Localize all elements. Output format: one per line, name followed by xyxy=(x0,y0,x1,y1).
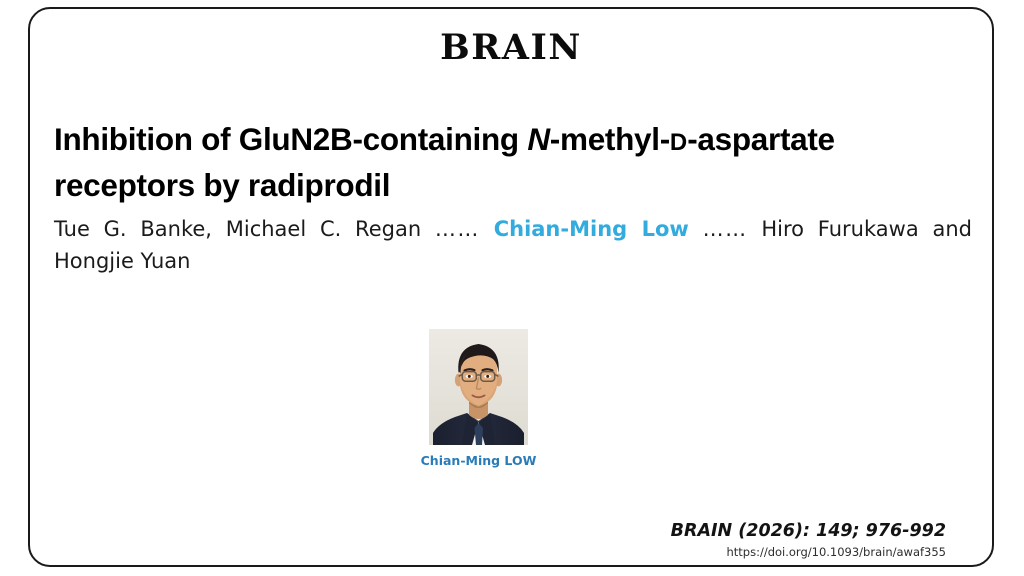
journal-masthead: BRAIN xyxy=(30,27,992,68)
author-ellipsis-first: …… xyxy=(435,217,480,241)
headshot-illustration xyxy=(429,329,528,445)
citation-doi-link[interactable]: https://doi.org/10.1093/brain/awaf355 xyxy=(671,545,946,559)
article-title-smallcap-d: D xyxy=(670,129,687,156)
portrait-photo xyxy=(429,329,528,445)
portrait-block: Chian-Ming LOW xyxy=(429,329,528,468)
author-names-before: Tue G. Banke, Michael C. Regan xyxy=(54,217,421,241)
author-ellipsis-second: …… xyxy=(703,217,748,241)
author-list: Tue G. Banke, Michael C. Regan …… Chian-… xyxy=(54,214,972,278)
portrait-caption: Chian-Ming LOW xyxy=(403,453,554,468)
article-title: Inhibition of GluN2B-containing N-methyl… xyxy=(54,117,970,208)
article-title-segment-2: -methyl- xyxy=(550,121,670,157)
citation-block: BRAIN (2026): 149; 976-992 https://doi.o… xyxy=(671,521,946,559)
highlighted-author-name: Chian-Ming Low xyxy=(494,217,689,241)
citation-reference: BRAIN (2026): 149; 976-992 xyxy=(671,521,946,541)
article-title-italic-n: N xyxy=(527,121,549,157)
slide-card-frame: BRAIN Inhibition of GluN2B-containing N-… xyxy=(28,7,994,567)
slide-canvas: BRAIN Inhibition of GluN2B-containing N-… xyxy=(0,0,1024,576)
article-title-segment-1: Inhibition of GluN2B-containing xyxy=(54,121,527,157)
